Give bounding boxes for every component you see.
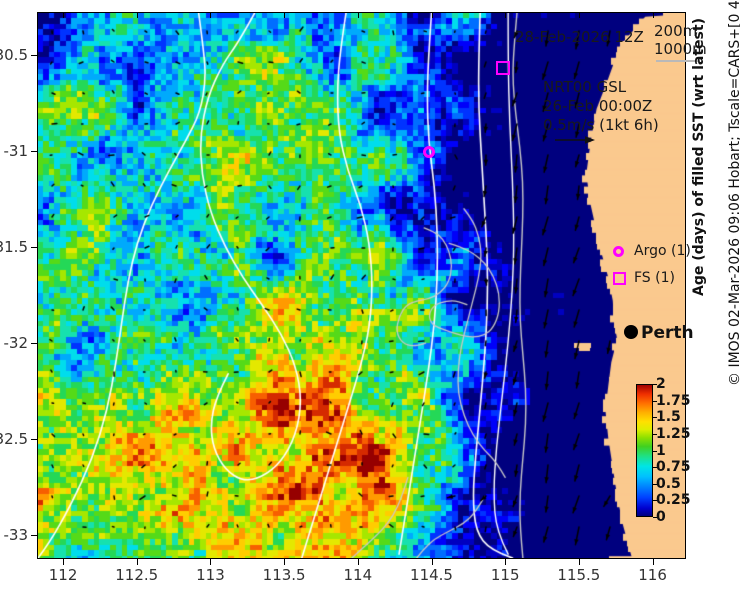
x-axis-label: 116 bbox=[638, 566, 667, 584]
x-axis-tick bbox=[137, 559, 138, 565]
x-axis-tick-top bbox=[210, 12, 211, 18]
y-axis-tick bbox=[31, 55, 37, 56]
fs-station-marker[interactable] bbox=[496, 61, 510, 75]
x-axis-tick bbox=[358, 559, 359, 565]
x-axis-label: 114.5 bbox=[410, 566, 453, 584]
date-stamp: 28-Feb-2026 12Z bbox=[515, 28, 644, 46]
x-axis-tick bbox=[63, 559, 64, 565]
x-axis-tick bbox=[432, 559, 433, 565]
velocity-arrow-icon bbox=[554, 133, 596, 147]
y-axis-label: -31.5 bbox=[0, 238, 28, 256]
x-axis-tick-top bbox=[284, 12, 285, 18]
y-axis-label: -31 bbox=[4, 142, 29, 160]
colorbar-tick-label: 0.5 bbox=[656, 476, 681, 492]
y-axis-label: -30.5 bbox=[0, 46, 28, 64]
legend-fs-square-icon bbox=[613, 272, 626, 285]
colorbar-tick-label: 0.75 bbox=[656, 459, 691, 475]
colorbar-tick-label: 2 bbox=[656, 376, 666, 392]
colorbar-gradient bbox=[636, 384, 653, 517]
argo-float-marker[interactable] bbox=[423, 146, 435, 158]
colorbar-tick-label: 1 bbox=[656, 443, 666, 459]
legend-argo-circle-icon bbox=[613, 246, 624, 257]
perth-city-label: Perth bbox=[641, 323, 694, 343]
x-axis-label: 113.5 bbox=[263, 566, 306, 584]
x-axis-tick-top bbox=[137, 12, 138, 18]
vector-scale-label: 0.5m/s (1kt 6h) bbox=[543, 116, 659, 134]
x-axis-tick-top bbox=[579, 12, 580, 18]
credit-line: © IMOS 02-Mar-2026 09:06 Hobart; Tscale=… bbox=[727, 0, 740, 386]
y-axis-tick bbox=[31, 151, 37, 152]
y-axis-label: -32 bbox=[4, 334, 29, 352]
colorbar-tick-label: 0.25 bbox=[656, 492, 691, 508]
x-axis-tick bbox=[653, 559, 654, 565]
y-axis-label: -33 bbox=[4, 526, 29, 544]
legend-argo-label: Argo (1) bbox=[634, 243, 691, 259]
x-axis-tick bbox=[505, 559, 506, 565]
x-axis-label: 115.5 bbox=[557, 566, 600, 584]
x-axis-label: 112.5 bbox=[115, 566, 158, 584]
x-axis-tick bbox=[210, 559, 211, 565]
colorbar-tick-label: 1.75 bbox=[656, 393, 691, 409]
legend-fs-label: FS (1) bbox=[634, 270, 675, 286]
x-axis-tick bbox=[284, 559, 285, 565]
y-axis-tick bbox=[31, 439, 37, 440]
colorbar-tick-label: 0 bbox=[656, 509, 666, 525]
x-axis-tick-top bbox=[432, 12, 433, 18]
colorbar-axis-title: Age (days) of filled SST (wrt latest) bbox=[691, 18, 707, 296]
y-axis-tick bbox=[31, 343, 37, 344]
model-name-label: NRT00 GSL bbox=[543, 78, 626, 96]
y-axis-label: -32.5 bbox=[0, 430, 28, 448]
x-axis-tick-top bbox=[63, 12, 64, 18]
x-axis-tick-top bbox=[358, 12, 359, 18]
x-axis-tick-top bbox=[505, 12, 506, 18]
x-axis-label: 114 bbox=[343, 566, 372, 584]
x-axis-label: 112 bbox=[49, 566, 78, 584]
x-axis-tick-top bbox=[653, 12, 654, 18]
colorbar-tick-label: 1.25 bbox=[656, 426, 691, 442]
model-valid-time-label: 26-Feb 00:00Z bbox=[543, 97, 652, 115]
colorbar bbox=[636, 384, 653, 517]
figure-canvas: 112112.5113113.5114114.5115115.5116-30.5… bbox=[0, 0, 740, 592]
y-axis-tick bbox=[31, 247, 37, 248]
x-axis-tick bbox=[579, 559, 580, 565]
colorbar-tick-label: 1.5 bbox=[656, 409, 681, 425]
perth-city-dot bbox=[624, 325, 638, 339]
x-axis-label: 113 bbox=[196, 566, 225, 584]
y-axis-tick bbox=[31, 535, 37, 536]
x-axis-label: 115 bbox=[491, 566, 520, 584]
